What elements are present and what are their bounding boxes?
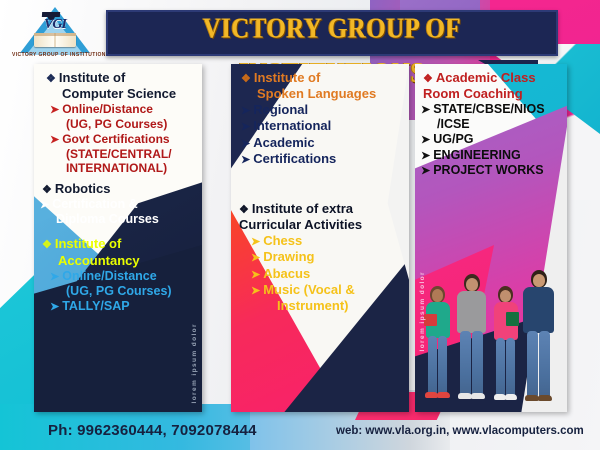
arrow-bullet-icon: ➤ (421, 165, 430, 178)
list-item: (STATE/CENTRAL/ (40, 147, 196, 161)
diamond-bullet-icon: ❖ (42, 184, 52, 196)
list-item: ➤STATE/CBSE/NIOS (421, 102, 561, 117)
footer: Ph: 9962360444, 7092078444 web: www.vla.… (0, 416, 600, 450)
list-item: ➤Govt Certifications (40, 132, 196, 147)
logo: VGI VICTORY GROUP OF INSTITUTIONS (12, 5, 98, 63)
list-item: ➤ENGINEERING (421, 148, 561, 163)
arrow-bullet-icon: ➤ (50, 301, 59, 314)
block-academic-coaching: ❖Academic Class Room Coaching ➤STATE/CBS… (421, 70, 561, 178)
list-item: ➤PROJECT WORKS (421, 163, 561, 178)
open-book-icon (34, 33, 76, 47)
heading-line-2: Curricular Activities (239, 217, 403, 233)
list-item: ➤TALLY/SAP (40, 299, 196, 314)
c3-content: ❖Academic Class Room Coaching ➤STATE/CBS… (415, 64, 567, 412)
list-item: ➤Online/Distance (40, 269, 196, 284)
arrow-bullet-icon: ➤ (421, 104, 430, 117)
arrow-bullet-icon: ➤ (251, 285, 260, 298)
list-item: ➤Academic (237, 135, 403, 151)
phone-number: Ph: 9962360444, 7092078444 (48, 422, 257, 439)
list-item: ➤Drawing (237, 249, 403, 265)
arrow-bullet-icon: ➤ (241, 154, 250, 167)
title-banner: VICTORY GROUP OF INSTITUTIONS (106, 10, 558, 56)
list-item: ➤Chess (237, 233, 403, 249)
diamond-bullet-icon: ❖ (239, 204, 249, 216)
arrow-bullet-icon: ➤ (50, 134, 59, 147)
heading-line-2: Room Coaching (423, 86, 561, 102)
block-spoken-languages: ❖Institute of Spoken Languages ➤Regional… (237, 70, 403, 167)
diamond-bullet-icon: ❖ (42, 239, 52, 251)
c1-content: ❖Institute of Computer Science ➤Online/D… (34, 64, 202, 412)
list-item: (UG, PG Courses) (40, 284, 196, 299)
list-extra-curricular: ➤Chess ➤Drawing ➤Abacus ➤Music (Vocal & … (237, 233, 403, 313)
heading-line-1: Institute of (59, 70, 125, 85)
list-item: ➤Music (Vocal & (237, 282, 403, 298)
heading-computer-science: ❖Institute of Computer Science (40, 70, 196, 102)
arrow-bullet-icon: ➤ (251, 269, 260, 282)
list-item: ➤Certifications (237, 151, 403, 167)
logo-caption: VICTORY GROUP OF INSTITUTIONS (12, 52, 98, 58)
c2-content: ❖Institute of Spoken Languages ➤Regional… (231, 64, 409, 412)
list-item: Instrument) (237, 298, 403, 314)
arrow-bullet-icon: ➤ (421, 150, 430, 163)
list-item: ➤Certification & (40, 197, 196, 212)
list-spoken-languages: ➤Regional ➤International ➤Academic ➤Cert… (237, 102, 403, 167)
diamond-bullet-icon: ❖ (423, 73, 433, 85)
heading-line-2: Accountancy (42, 253, 196, 269)
arrow-bullet-icon: ➤ (50, 271, 59, 284)
list-academic-coaching: ➤STATE/CBSE/NIOS /ICSE ➤UG/PG ➤ENGINEERI… (421, 102, 561, 178)
list-item: ➤Regional (237, 102, 403, 118)
arrow-bullet-icon: ➤ (241, 105, 250, 118)
heading-line-1: Institute of extra (252, 201, 353, 216)
list-item: INTERNATIONAL) (40, 161, 196, 175)
list-item: Diploma Courses (40, 212, 196, 227)
arrow-bullet-icon: ➤ (251, 236, 260, 249)
arrow-bullet-icon: ➤ (241, 121, 250, 134)
diamond-bullet-icon: ❖ (46, 73, 56, 85)
watermark-text: lorem ipsum dolor (191, 323, 198, 404)
block-extra-curricular: ❖Institute of extra Curricular Activitie… (237, 201, 403, 314)
logo-monogram: VGI (34, 17, 76, 33)
list-computer-science: ➤Online/Distance (UG, PG Courses) ➤Govt … (40, 102, 196, 176)
watermark-text: lorem ipsum dolor (419, 271, 426, 352)
list-item: (UG, PG Courses) (40, 117, 196, 131)
header: VGI VICTORY GROUP OF INSTITUTIONS VICTOR… (0, 0, 600, 62)
heading-spoken-languages: ❖Institute of Spoken Languages (237, 70, 403, 102)
arrow-bullet-icon: ➤ (421, 134, 430, 147)
list-item: ➤Online/Distance (40, 102, 196, 117)
panel-column-1: ❖Institute of Computer Science ➤Online/D… (34, 64, 202, 412)
panel-column-3: ❖Academic Class Room Coaching ➤STATE/CBS… (415, 64, 567, 412)
arrow-bullet-icon: ➤ (40, 199, 49, 212)
website-links: web: www.vla.org.in, www.vlacomputers.co… (336, 425, 584, 437)
list-item: ➤UG/PG (421, 132, 561, 147)
heading-academic-coaching: ❖Academic Class Room Coaching (421, 70, 561, 102)
list-item: ➤International (237, 118, 403, 134)
list-item: /ICSE (421, 117, 561, 132)
list-accountancy: ➤Online/Distance (UG, PG Courses) ➤TALLY… (40, 269, 196, 314)
arrow-bullet-icon: ➤ (50, 104, 59, 117)
heading-line-2: Spoken Languages (241, 86, 403, 102)
arrow-bullet-icon: ➤ (251, 252, 260, 265)
heading-extra-curricular: ❖Institute of extra Curricular Activitie… (237, 201, 403, 233)
block-accountancy: ❖Institute of Accountancy ➤Online/Distan… (40, 236, 196, 314)
heading-accountancy: ❖Institute of Accountancy (40, 236, 196, 268)
panel-column-2: ❖Institute of Spoken Languages ➤Regional… (231, 64, 409, 412)
list-robotics: ➤Certification & Diploma Courses (40, 197, 196, 227)
heading-line-1: Institute of (55, 236, 121, 251)
heading-line-1: Academic Class (436, 70, 536, 85)
block-robotics: ❖Robotics ➤Certification & Diploma Cours… (40, 181, 196, 228)
heading-robotics: ❖Robotics (40, 181, 196, 197)
list-item: ➤Abacus (237, 266, 403, 282)
block-computer-science: ❖Institute of Computer Science ➤Online/D… (40, 70, 196, 176)
arrow-bullet-icon: ➤ (241, 138, 250, 151)
heading-line-2: Computer Science (46, 86, 196, 102)
heading-line-1: Institute of (254, 70, 320, 85)
diamond-bullet-icon: ❖ (241, 73, 251, 85)
poster: VGI VICTORY GROUP OF INSTITUTIONS VICTOR… (0, 0, 600, 450)
